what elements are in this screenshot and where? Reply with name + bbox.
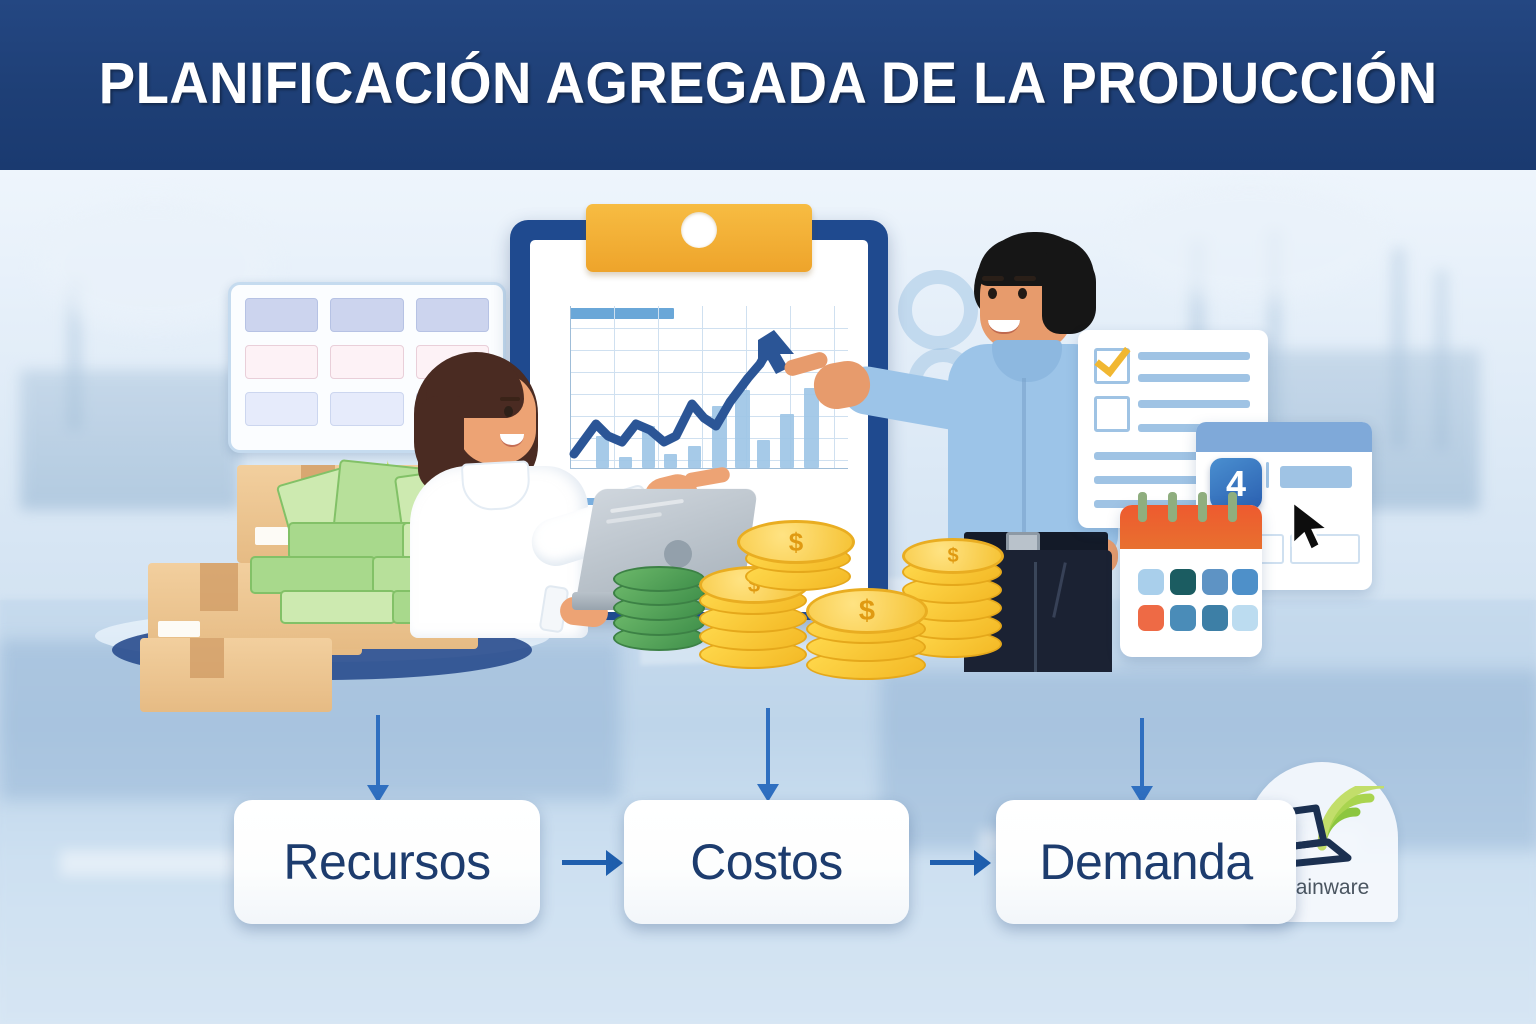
coin-top-gold: $ [806, 588, 928, 634]
calendar-cell [1232, 569, 1258, 595]
spreadsheet-cell [330, 345, 403, 379]
illustration-scene: ✦ ✦ ✦ [0, 170, 1536, 1024]
calendar-cell [1138, 569, 1164, 595]
flow-box-recursos[interactable]: Recursos [234, 800, 540, 924]
cardboard-box [140, 638, 332, 712]
flow-box-demanda[interactable]: Demanda [996, 800, 1296, 924]
spreadsheet-cell [245, 392, 318, 426]
calendar-ring [1168, 492, 1177, 522]
woman-eyebrow [500, 397, 520, 401]
checkbox [1094, 396, 1130, 432]
page-title: PLANIFICACIÓN AGREGADA DE LA PRODUCCIÓN [99, 50, 1438, 121]
box-tape [200, 563, 238, 611]
spreadsheet-cell [330, 298, 403, 332]
man-pants-crease [1034, 562, 1037, 672]
flow-arrow-1 [562, 860, 608, 865]
man-hair-side [1042, 252, 1096, 334]
calendar-ring [1138, 492, 1147, 522]
calendar-cell [1232, 605, 1258, 631]
down-arrow-resources [376, 715, 380, 787]
calendar-widget [1120, 505, 1262, 657]
window-field-fill [1280, 466, 1352, 488]
document-line [1138, 374, 1250, 382]
flow-box-costos[interactable]: Costos [624, 800, 909, 924]
flow-box-label: Demanda [1039, 833, 1252, 891]
down-arrow-costs [766, 708, 770, 786]
spreadsheet-cell [330, 392, 403, 426]
flow-box-label: Costos [690, 833, 843, 891]
box-tape [190, 638, 224, 678]
coin-stack-green [613, 566, 705, 592]
cursor-icon [1290, 500, 1334, 554]
calendar-cell [1202, 605, 1228, 631]
coin-symbol: $ [859, 595, 875, 628]
calendar-ring [1228, 492, 1237, 522]
title-banner: PLANIFICACIÓN AGREGADA DE LA PRODUCCIÓN [0, 0, 1536, 170]
window-field-divider [1266, 462, 1269, 488]
document-line [1138, 400, 1250, 408]
clipboard-clip [586, 204, 812, 272]
down-arrow-demand [1140, 718, 1144, 788]
man-eyebrow [982, 276, 1004, 281]
coin-top-gold: $ [737, 520, 855, 564]
window-title-bar [1196, 422, 1372, 452]
laptop-logo-icon [664, 540, 692, 568]
spreadsheet-cell [245, 345, 318, 379]
banknote [250, 556, 376, 594]
box-label [158, 621, 200, 637]
woman-finger [683, 466, 731, 489]
spreadsheet-row [231, 298, 503, 332]
coin-top-gold: $ [902, 538, 1004, 574]
clipboard-clip-hole [681, 212, 717, 248]
calendar-ring [1198, 492, 1207, 522]
spreadsheet-cell [416, 298, 489, 332]
man-eyebrow [1014, 276, 1036, 281]
banknote [280, 590, 396, 624]
woman-eye [504, 406, 513, 417]
man-shirt-placket [1022, 378, 1026, 544]
calendar-cell [1138, 605, 1164, 631]
document-line [1138, 352, 1250, 360]
calendar-cell [1202, 569, 1228, 595]
background-smoke [1120, 180, 1380, 300]
infographic-canvas: PLANIFICACIÓN AGREGADA DE LA PRODUCCIÓN … [0, 0, 1536, 1024]
flow-arrow-2 [930, 860, 976, 865]
man-eye [988, 288, 997, 299]
man-eye [1018, 288, 1027, 299]
calendar-cell [1170, 569, 1196, 595]
coin-symbol: $ [789, 527, 803, 558]
coin-symbol: $ [947, 545, 958, 568]
banknote [288, 522, 414, 560]
flow-box-label: Recursos [283, 833, 490, 891]
background-building [20, 370, 240, 510]
spreadsheet-cell [245, 298, 318, 332]
calendar-cell [1170, 605, 1196, 631]
